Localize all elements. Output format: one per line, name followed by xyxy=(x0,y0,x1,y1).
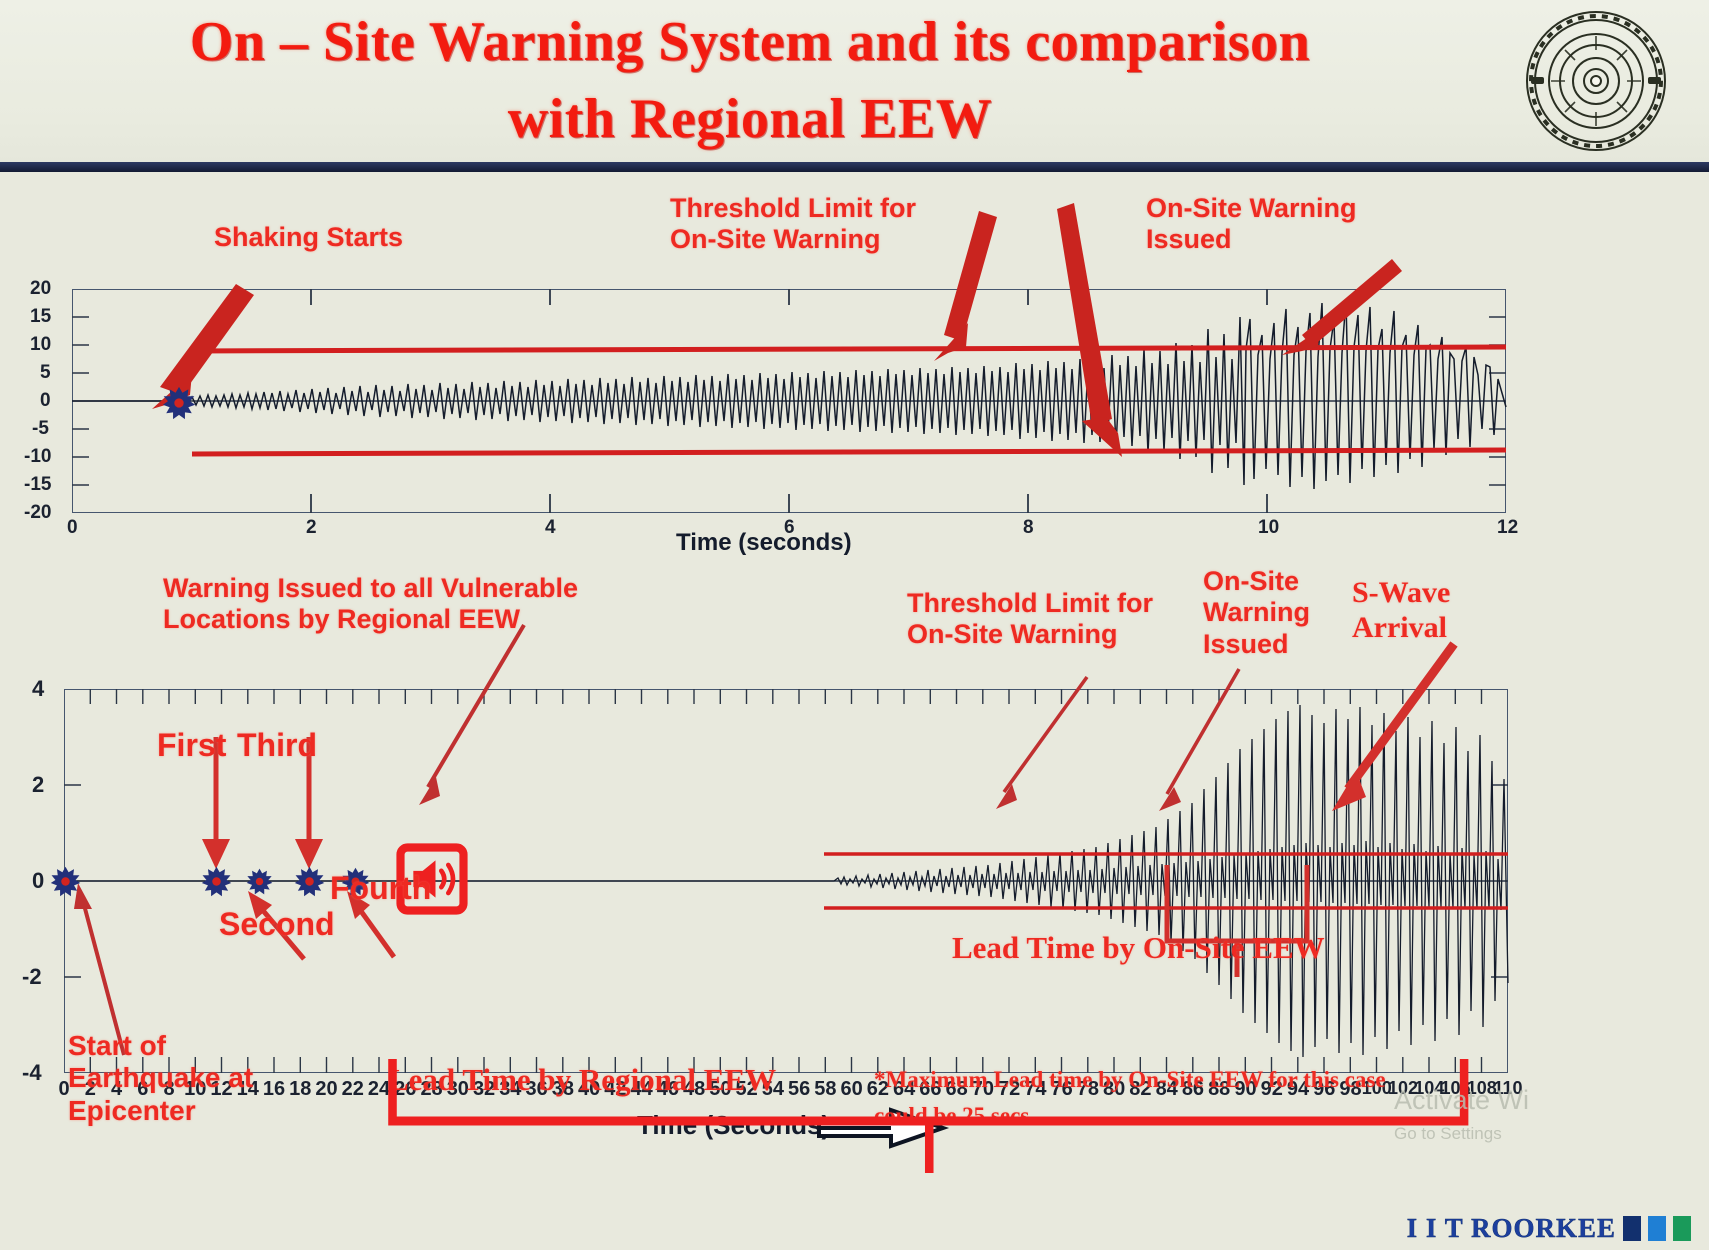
burst-marker-third-station xyxy=(294,866,325,897)
top-xtick-2: 2 xyxy=(306,517,317,539)
iit-roorkee-footer-text: I I T ROORKEE xyxy=(1407,1213,1616,1244)
bottom-xtick-20: 20 xyxy=(315,1078,337,1101)
footer-square-3 xyxy=(1673,1216,1691,1241)
slide-canvas: On – Site Warning System and its compari… xyxy=(0,0,1709,1250)
bottom-ytick-m2: -2 xyxy=(22,964,42,990)
annotation-third: Third xyxy=(237,727,317,764)
iit-roorkee-emblem-icon xyxy=(1521,6,1671,156)
watermark-line1: Activate Wi xyxy=(1394,1080,1529,1121)
bracket-lead-time-regional xyxy=(383,1055,1523,1175)
footer-square-1 xyxy=(1623,1216,1641,1241)
arrow-regional-warning xyxy=(428,625,524,787)
top-ytick-m15: -15 xyxy=(24,474,51,496)
top-waveform xyxy=(72,299,1506,489)
bottom-ytick-0: 0 xyxy=(32,868,44,894)
burst-marker-first-station xyxy=(201,866,232,897)
burst-marker-second-station xyxy=(246,868,273,895)
arrow-s-wave-arrival xyxy=(1348,644,1454,789)
arrow-warning-issued xyxy=(1282,259,1402,355)
top-ytick-10: 10 xyxy=(30,334,51,356)
bottom-xtick-18: 18 xyxy=(289,1078,311,1101)
top-ytick-m10: -10 xyxy=(24,446,51,468)
annotation-threshold-limit-top: Threshold Limit for On-Site Warning xyxy=(670,193,916,256)
top-ytick-15: 15 xyxy=(30,306,51,328)
iit-roorkee-footer: I I T ROORKEE xyxy=(1407,1213,1691,1244)
top-xtick-12: 12 xyxy=(1497,517,1518,539)
top-ytick-0: 0 xyxy=(40,390,51,412)
annotation-fourth: Fourth xyxy=(330,870,431,907)
top-ytick-5: 5 xyxy=(40,362,51,384)
annotation-lead-time-onsite: Lead Time by On-Site EEW xyxy=(952,930,1325,966)
footer-square-2 xyxy=(1648,1216,1666,1241)
top-chart-xlabel: Time (seconds) xyxy=(676,529,852,557)
top-chart-svg xyxy=(72,289,1506,513)
top-ytick-20: 20 xyxy=(30,278,51,300)
annotation-first: First xyxy=(157,727,226,764)
arrow-fourth xyxy=(358,907,394,957)
top-ytick-m5: -5 xyxy=(32,418,49,440)
burst-marker-start-of-earthquake xyxy=(50,866,81,897)
arrow-threshold-limit xyxy=(934,211,997,361)
annotation-second: Second xyxy=(219,906,335,943)
top-xtick-8: 8 xyxy=(1023,517,1034,539)
burst-marker-shaking-starts xyxy=(162,386,196,420)
annotation-onsite-warning-issued-top: On-Site Warning Issued xyxy=(1146,193,1357,256)
page-title: On – Site Warning System and its compari… xyxy=(150,4,1350,159)
windows-activation-watermark: Activate Wi Go to Settings xyxy=(1394,1080,1529,1146)
bottom-x-ticks-top xyxy=(90,689,1481,704)
top-xtick-0: 0 xyxy=(67,517,78,539)
arrowhead-third xyxy=(295,839,323,869)
annotation-start-of-earthquake: Start of Earthquake at Epicenter xyxy=(68,1030,253,1127)
slide-header: On – Site Warning System and its compari… xyxy=(0,0,1709,172)
bottom-ytick-m4: -4 xyxy=(22,1060,42,1086)
annotation-threshold-limit-bottom: Threshold Limit for On-Site Warning xyxy=(907,588,1153,651)
bottom-ytick-4: 4 xyxy=(32,676,44,702)
top-xtick-4: 4 xyxy=(545,517,556,539)
top-ytick-m20: -20 xyxy=(24,502,51,524)
top-xtick-10: 10 xyxy=(1258,517,1279,539)
bottom-ytick-2: 2 xyxy=(32,772,44,798)
watermark-line2: Go to Settings xyxy=(1394,1121,1529,1147)
top-chart-plot: 20 15 10 5 0 -5 -10 -15 -20 0 2 4 6 8 10… xyxy=(72,289,1506,513)
annotation-regional-warning: Warning Issued to all Vulnerable Locatio… xyxy=(163,573,578,636)
bottom-xtick-16: 16 xyxy=(263,1078,285,1101)
annotation-shaking-starts: Shaking Starts xyxy=(214,222,403,253)
arrowhead-first xyxy=(202,839,230,869)
annotation-s-wave-arrival: S-Wave Arrival xyxy=(1352,576,1450,646)
annotation-onsite-warning-issued-bottom: On-Site Warning Issued xyxy=(1203,566,1310,660)
arrow-threshold-limit-bottom xyxy=(1004,677,1087,792)
bottom-xtick-22: 22 xyxy=(342,1078,364,1101)
top-lower-threshold xyxy=(192,450,1506,454)
